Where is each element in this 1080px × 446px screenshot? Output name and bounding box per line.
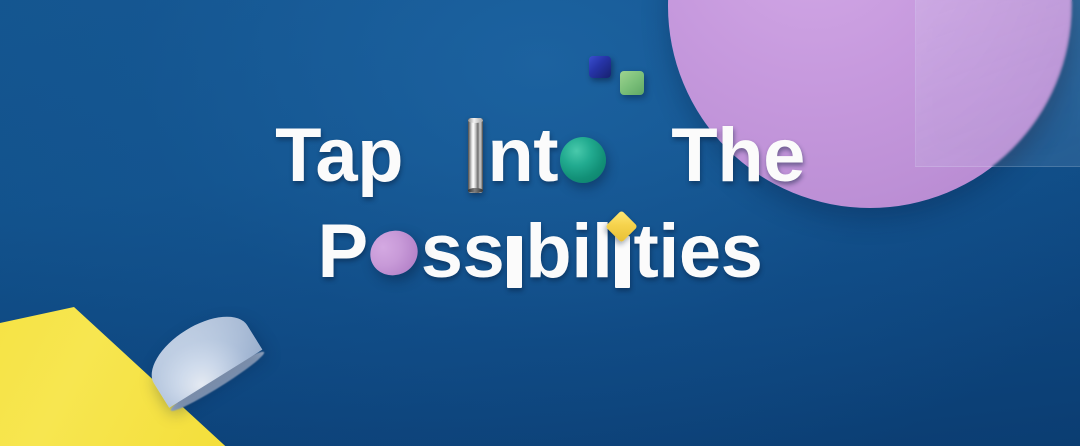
- i-stem-bar: [507, 236, 522, 288]
- green-square-shape: [620, 71, 644, 95]
- tablet-top: [363, 223, 425, 283]
- headline-letter-p: P: [318, 214, 368, 290]
- i-stem-bar: [615, 236, 630, 288]
- teal-sphere-icon: [560, 137, 606, 183]
- navy-square-shape: [589, 56, 611, 78]
- headline-word-tap: Tap: [275, 118, 403, 194]
- chrome-cylinder-icon: [468, 118, 483, 193]
- letter-i-stem-diamond: [615, 214, 630, 289]
- letter-i-stem: [507, 214, 522, 289]
- headline-line-2: Pssbilties: [0, 214, 1080, 290]
- headline-word-the: The: [671, 118, 805, 194]
- headline-line-1: Tap nt The: [0, 118, 1080, 194]
- headline-word-into-mid: nt: [487, 118, 558, 194]
- headline-letters-ss: ss: [421, 214, 505, 290]
- purple-tablet-icon: [368, 229, 420, 281]
- banner-canvas: Tap nt The Pssbilties: [0, 0, 1080, 446]
- headline-letter-b: b: [525, 214, 571, 290]
- headline-letter-i2: i: [571, 214, 592, 290]
- headline-letters-ties: ties: [633, 214, 762, 290]
- headline: Tap nt The Pssbilties: [0, 118, 1080, 290]
